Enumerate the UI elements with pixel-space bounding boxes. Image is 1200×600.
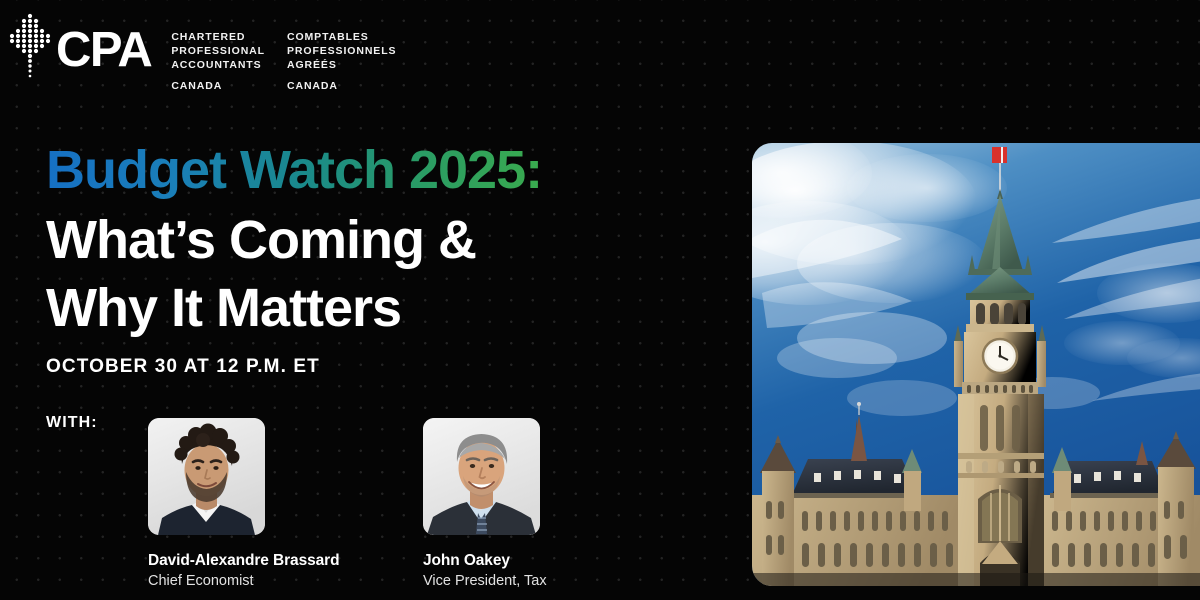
legal-fr-line-4: CANADA (287, 79, 396, 93)
cpa-logo: CPA CHARTERED PROFESSIONAL ACCOUNTANTS C… (8, 12, 396, 93)
parliament-hill-peace-tower-photo (752, 143, 1200, 586)
webinar-promo-banner: CPA CHARTERED PROFESSIONAL ACCOUNTANTS C… (0, 0, 1200, 600)
headline-line-1: Budget Watch 2025: (46, 140, 542, 200)
legal-en-line-3: ACCOUNTANTS (171, 58, 265, 72)
headshot-john-oakey (423, 418, 540, 535)
cpa-wordmark: CPA (56, 26, 151, 75)
speaker-title: Vice President, Tax (423, 573, 547, 589)
cpa-legal-name-english: CHARTERED PROFESSIONAL ACCOUNTANTS CANAD… (171, 30, 265, 93)
page-title: Budget Watch 2025: What’s Coming & Why I… (46, 140, 542, 342)
headline-line-3: Why It Matters (46, 274, 542, 342)
headshot-david-alexandre-brassard (148, 418, 265, 535)
legal-fr-line-1: COMPTABLES (287, 30, 396, 44)
cpa-legal-name-french: COMPTABLES PROFESSIONNELS AGRÉÉS CANADA (287, 30, 396, 93)
legal-fr-line-2: PROFESSIONNELS (287, 44, 396, 58)
speaker-title: Chief Economist (148, 573, 339, 589)
cpa-legal-name: CHARTERED PROFESSIONAL ACCOUNTANTS CANAD… (171, 30, 396, 93)
cpa-maple-leaf-dot-icon (8, 12, 52, 86)
speaker-card-john-oakey: John Oakey Vice President, Tax (423, 418, 547, 589)
speaker-card-david-alexandre-brassard: David-Alexandre Brassard Chief Economist (148, 418, 339, 589)
speaker-name: John Oakey (423, 552, 547, 570)
legal-en-line-1: CHARTERED (171, 30, 265, 44)
legal-fr-line-3: AGRÉÉS (287, 58, 396, 72)
legal-en-line-2: PROFESSIONAL (171, 44, 265, 58)
legal-en-line-4: CANADA (171, 79, 265, 93)
headline-line-1-wrap: Budget Watch 2025: (46, 140, 542, 200)
speaker-name: David-Alexandre Brassard (148, 552, 339, 570)
headline-line-2: What’s Coming & (46, 206, 542, 274)
with-label: WITH: (46, 414, 98, 432)
event-date-time: OCTOBER 30 AT 12 P.M. ET (46, 356, 320, 378)
